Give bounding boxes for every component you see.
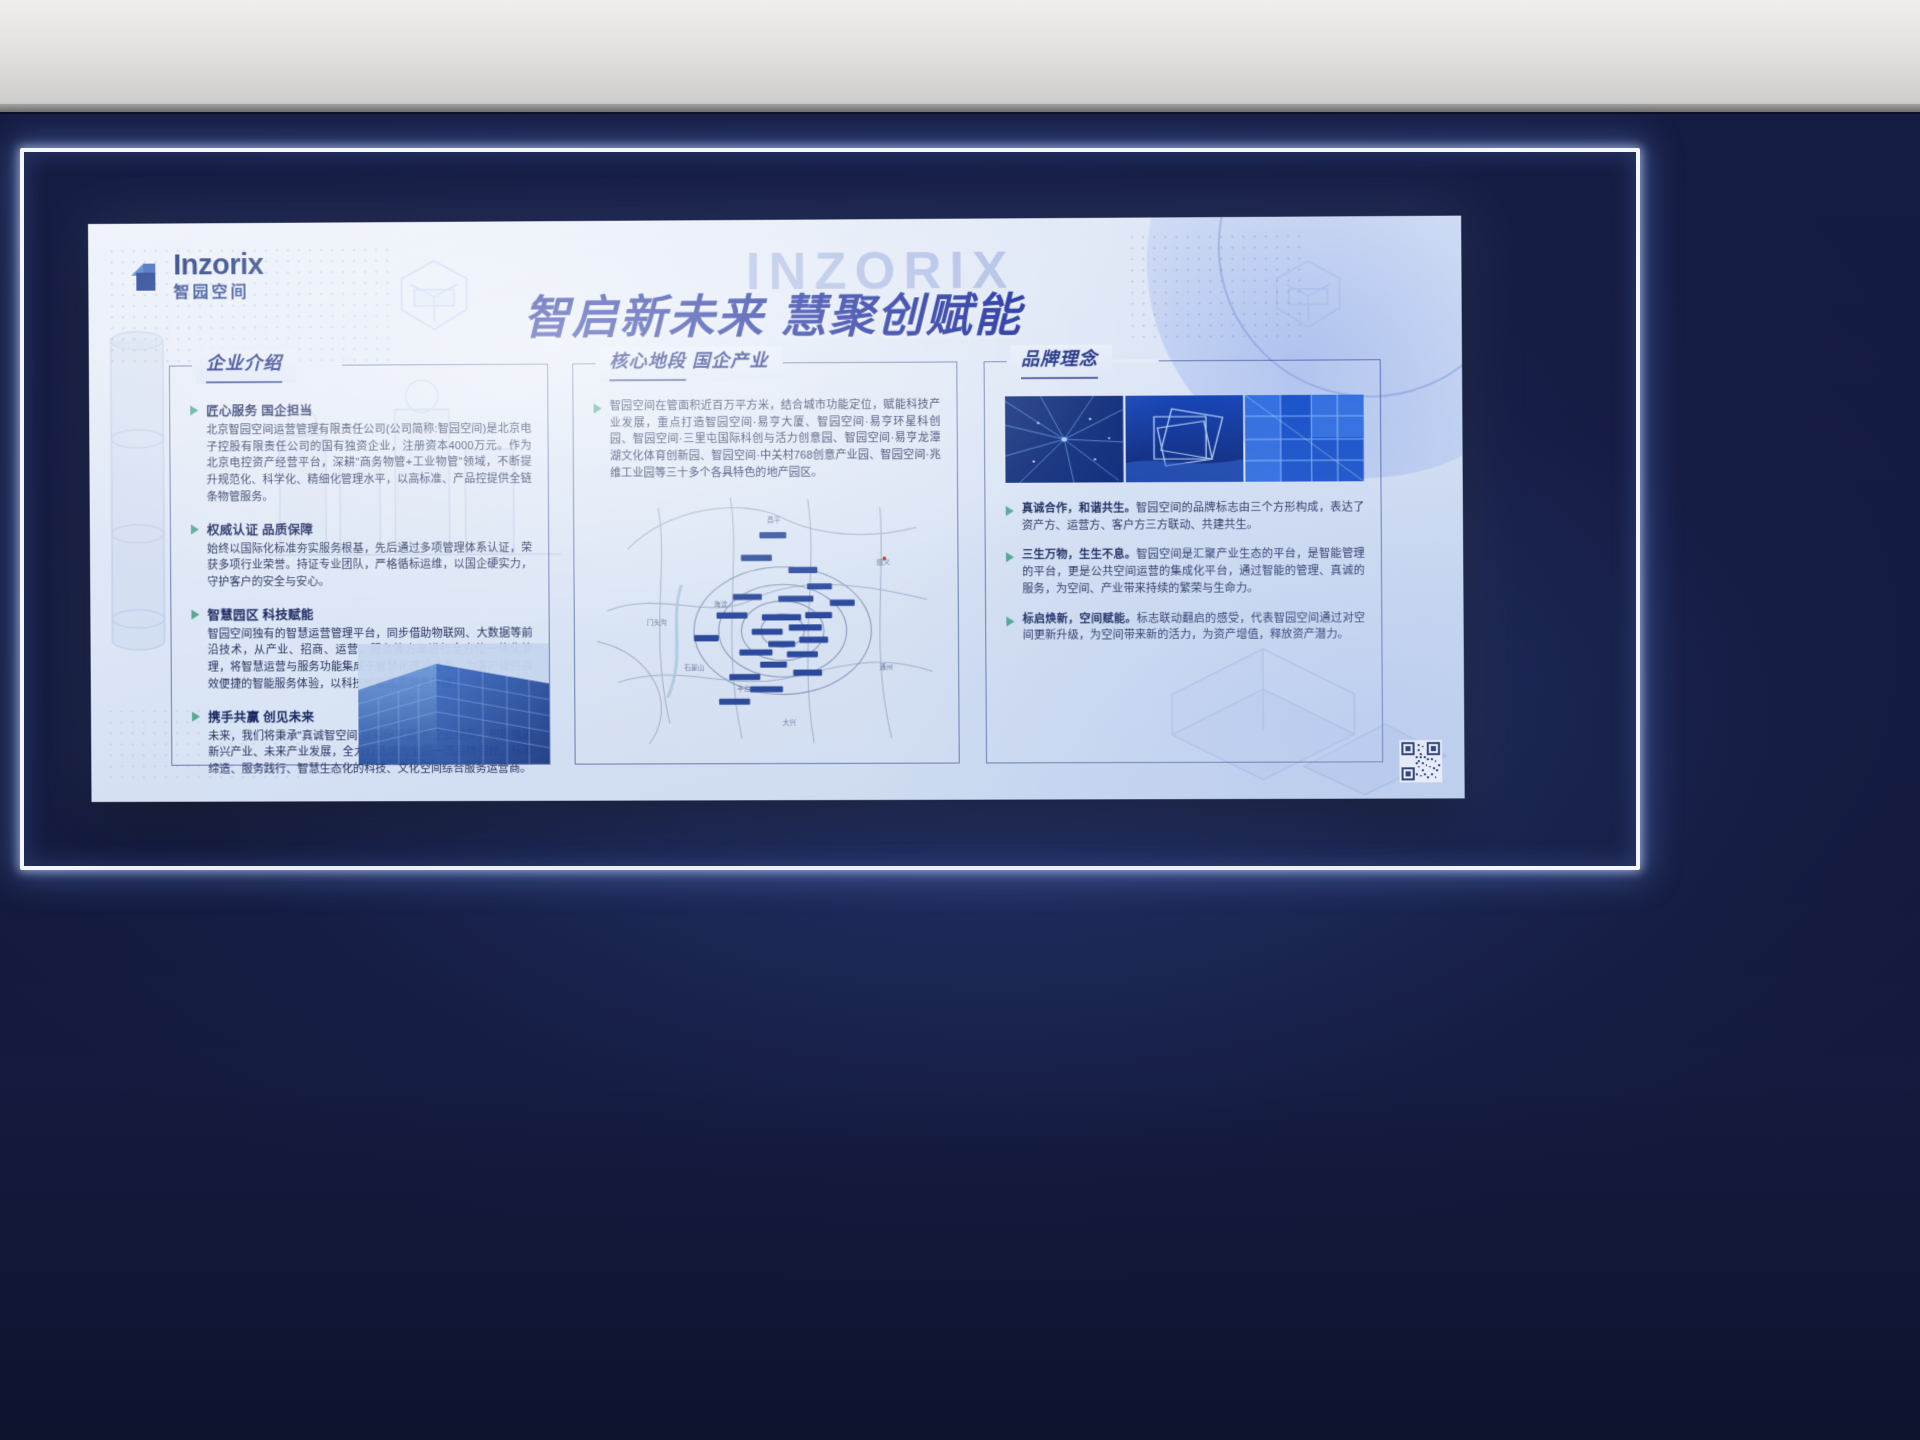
block-heading: 权威认证 品质保障 [207, 518, 532, 538]
triangle-bullet-icon [1006, 553, 1014, 563]
block-heading: 三生万物，生生不息。 [1022, 549, 1136, 562]
block-body: 北京智园空间运营管理有限责任公司(公司简称:智园空间)是北京电子控股有限责任公司… [206, 421, 532, 506]
panel-location-title: 核心地段 国企产业 [609, 346, 768, 373]
beijing-district-map: 昌平 顺义 海淀 门头沟 石景山 丰台 通州 大兴 [586, 485, 949, 755]
block-heading: 标启焕新，空间赋能。 [1023, 613, 1137, 625]
bullet-block: 匠心服务 国企担当 北京智园空间运营管理有限责任公司(公司简称:智园空间)是北京… [190, 399, 532, 506]
panel-location: 核心地段 国企产业 智园空间在管面积近百万平方米，结合城市功能定位，赋能科技产业… [572, 361, 960, 764]
bullet-block: 三生万物，生生不息。智园空间是汇聚产业生态的平台，是智能管理的平台，更是公共空间… [1006, 546, 1365, 598]
strip-image-glass-facade [1245, 395, 1364, 482]
svg-text:丰台: 丰台 [737, 683, 751, 692]
block-heading: 真诚合作，和谐共生。 [1022, 502, 1136, 515]
floor-shadow [0, 1080, 1920, 1440]
office-building-photo [358, 643, 550, 764]
panel-location-body: 智园空间在管面积近百万平方米，结合城市功能定位，赋能科技产业发展，重点打造智园空… [594, 397, 941, 496]
svg-text:海淀: 海淀 [714, 599, 728, 608]
panel-philosophy-rule [1021, 377, 1098, 379]
panel-company-intro: 企业介绍 匠心服务 国企担当 北京智园空间运营管理有限责任公司(公司简称:智园空… [169, 364, 551, 766]
panel-company-rule [206, 381, 282, 383]
qr-code[interactable] [1399, 740, 1442, 782]
bullet-block: 权威认证 品质保障 始终以国际化标准夯实服务根基，先后通过多项管理体系认证，荣获… [191, 518, 533, 592]
svg-text:石景山: 石景山 [684, 663, 704, 672]
panel-location-rule [610, 379, 687, 381]
bullet-block: 智园空间在管面积近百万平方米，结合城市功能定位，赋能科技产业发展，重点打造智园空… [594, 397, 941, 483]
triangle-bullet-icon [1006, 506, 1014, 516]
bullet-block: 标启焕新，空间赋能。标志联动翻启的感受，代表智园空间通过对空间更新升级，为空间带… [1006, 610, 1365, 645]
panel-philosophy-title: 品牌理念 [1021, 345, 1098, 372]
triangle-bullet-icon [1006, 616, 1014, 626]
panel-brand-philosophy: 品牌理念 [984, 359, 1384, 763]
svg-text:昌平: 昌平 [767, 516, 781, 524]
panel-company-title: 企业介绍 [206, 349, 282, 375]
panel-philosophy-body: 真诚合作，和谐共生。智园空间的品牌标志由三个方形构成，表达了资产方、运营方、客户… [1006, 499, 1366, 657]
triangle-bullet-icon [191, 524, 199, 534]
panel-philosophy-header: 品牌理念 [1011, 345, 1112, 379]
svg-text:门头沟: 门头沟 [647, 618, 667, 627]
block-heading: 匠心服务 国企担当 [206, 399, 531, 420]
ceiling-wall [0, 0, 1920, 112]
block-body: 始终以国际化标准夯实服务根基，先后通过多项管理体系认证，荣获多项行业荣誉。持证专… [207, 540, 532, 592]
bullet-block: 真诚合作，和谐共生。智园空间的品牌标志由三个方形构成，表达了资产方、运营方、客户… [1006, 499, 1365, 534]
strip-image-squares [1125, 395, 1244, 482]
triangle-bullet-icon [192, 711, 200, 721]
svg-text:大兴: 大兴 [783, 718, 797, 727]
brand-image-strip [1005, 395, 1364, 483]
triangle-bullet-icon [191, 609, 199, 619]
triangle-bullet-icon [190, 405, 198, 415]
panel-location-header: 核心地段 国企产业 [599, 346, 783, 381]
svg-text:通州: 通州 [879, 662, 892, 671]
panel-company-header: 企业介绍 [196, 349, 296, 383]
strip-image-network [1005, 396, 1124, 483]
block-heading: 智慧园区 科技赋能 [207, 603, 532, 623]
block-body: 智园空间在管面积近百万平方米，结合城市功能定位，赋能科技产业发展，重点打造智园空… [610, 397, 941, 483]
triangle-bullet-icon [594, 403, 602, 413]
lightbox-poster: INZORIX Inzorix 智园空间 智启新未来 慧聚创赋能 企业介绍 [88, 216, 1465, 802]
